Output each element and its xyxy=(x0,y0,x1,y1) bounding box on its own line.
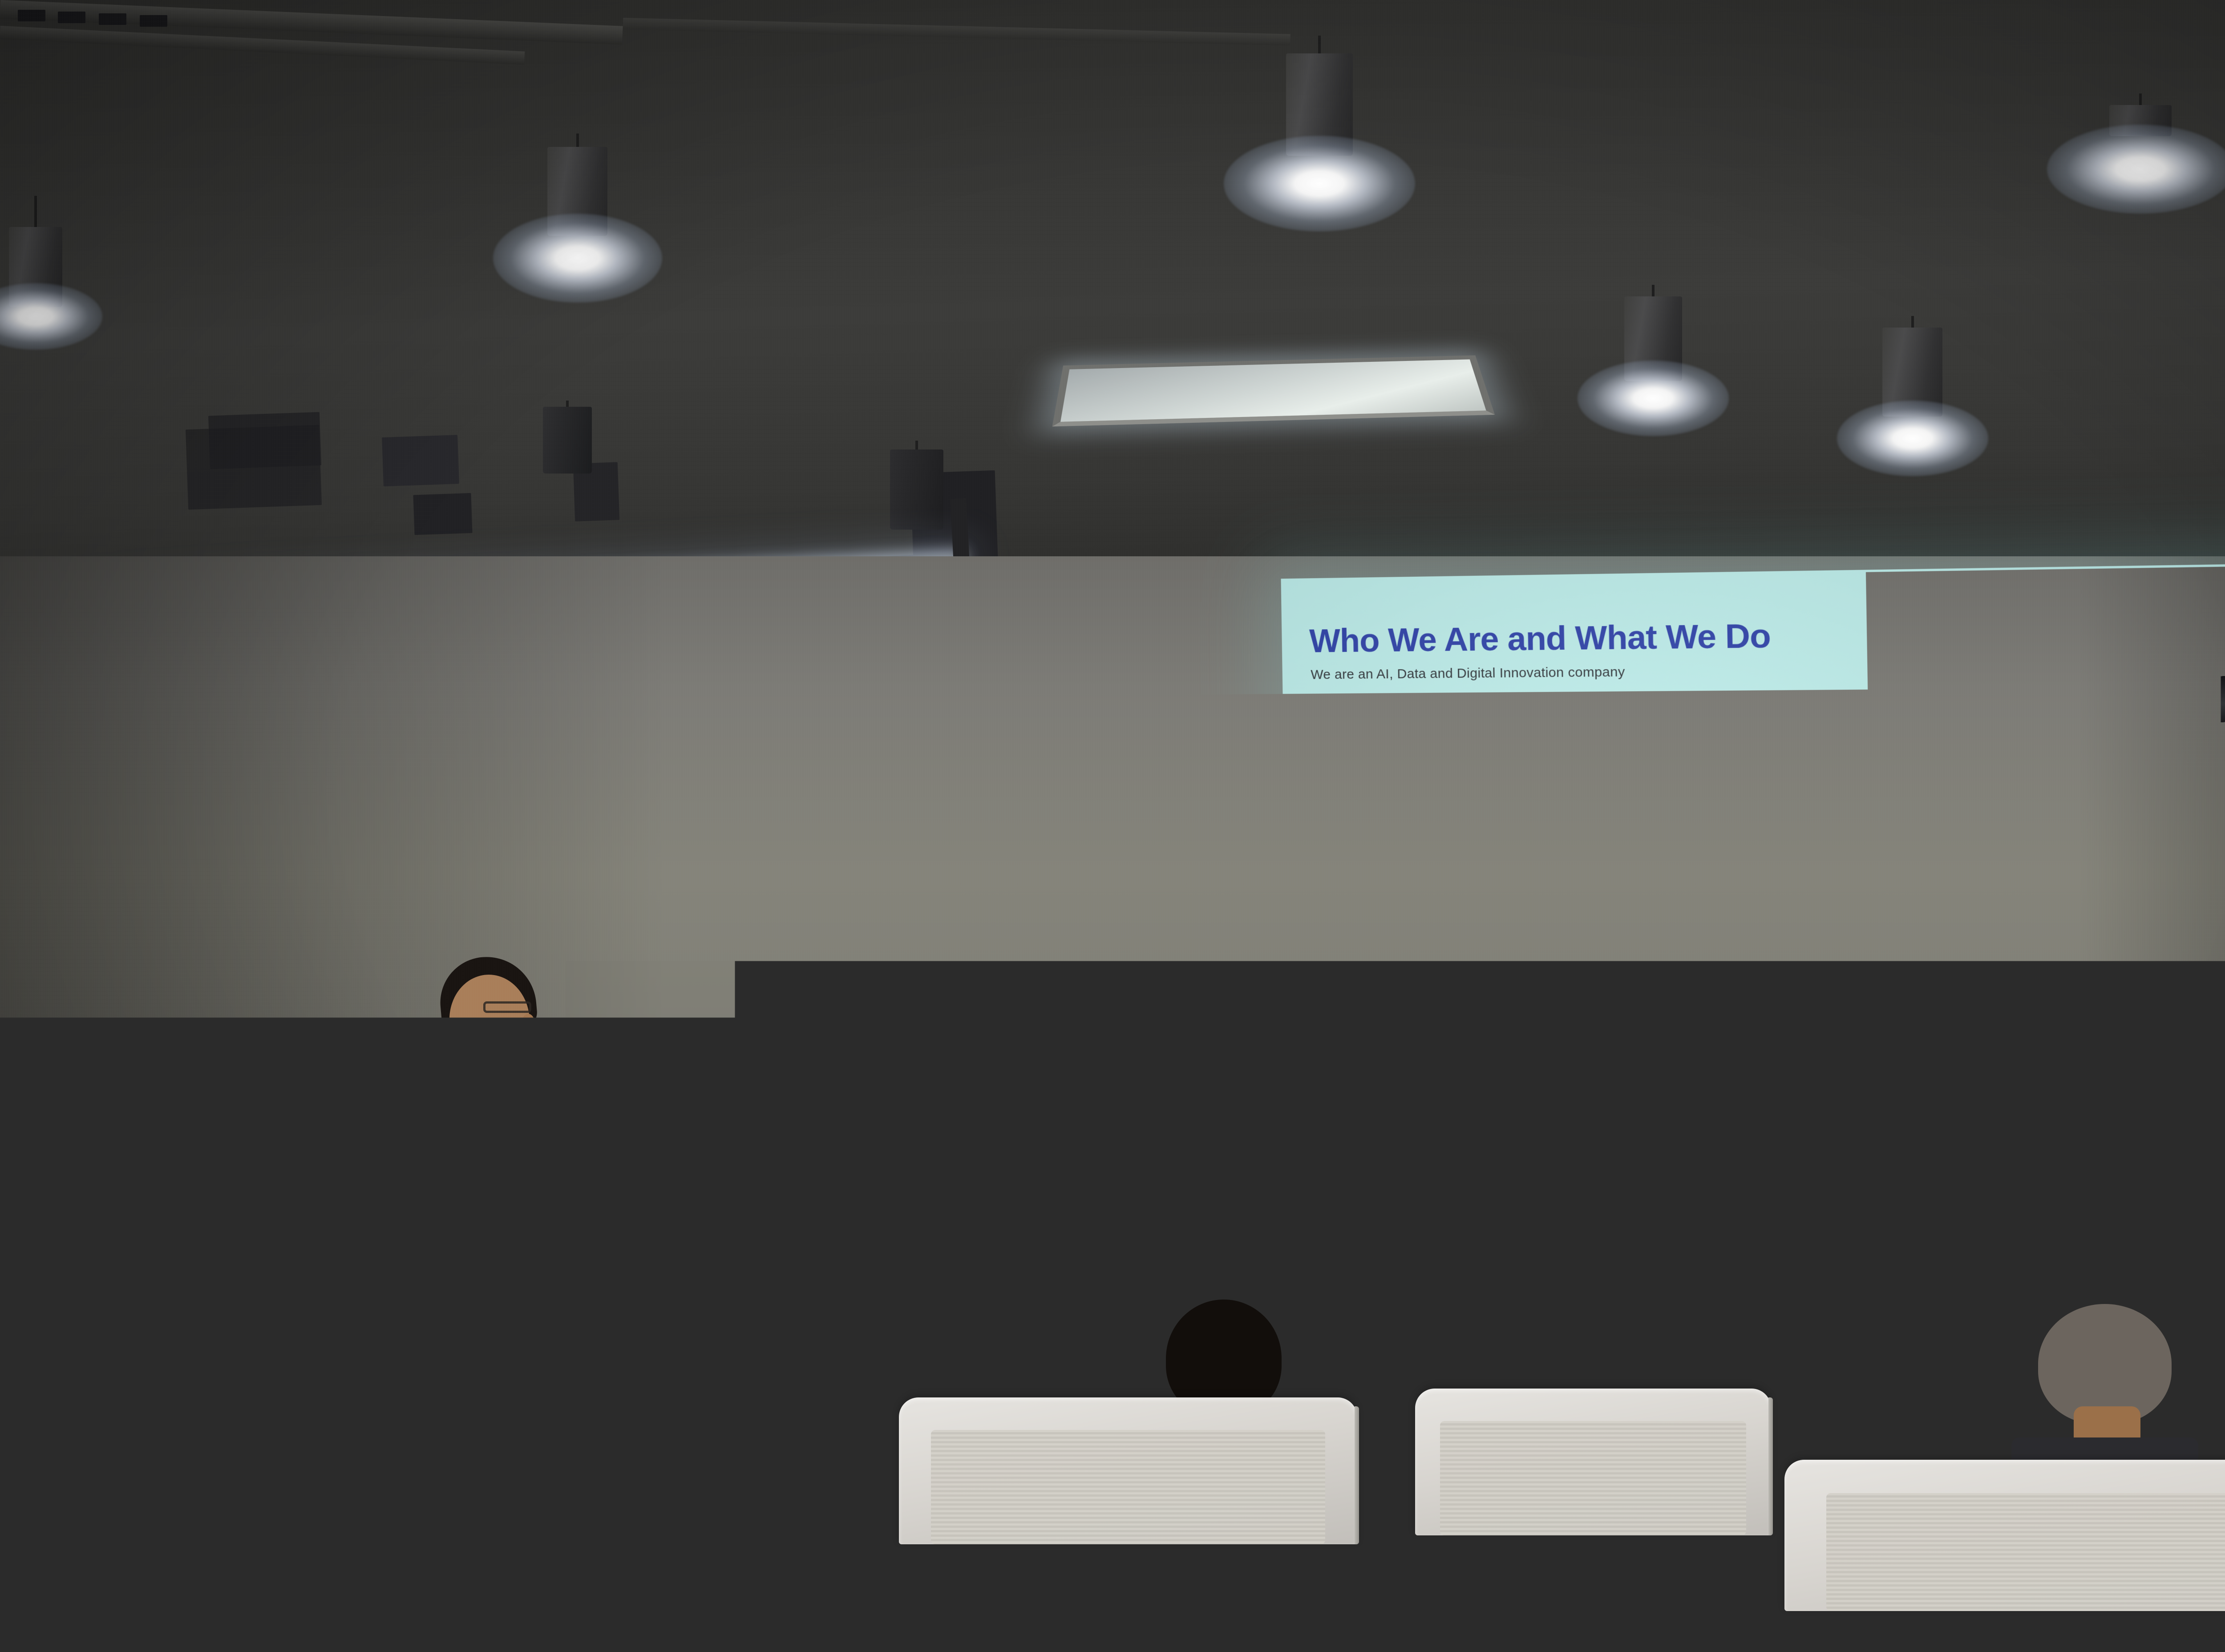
id-badge xyxy=(493,1228,535,1282)
company-infinity-logo xyxy=(2185,590,2225,642)
pendant-light xyxy=(1882,316,1942,503)
presence-row: USACA | FL | TXUKLeicesterSouth AfricaCe… xyxy=(1406,1059,2166,1132)
fact-post: more than 90% xyxy=(1745,1010,1806,1021)
pendant-light xyxy=(547,134,607,325)
partner-tier: Partner xyxy=(1664,938,1716,945)
row-label-presence: Presence xyxy=(1307,1071,1392,1086)
value-item: Impactful xyxy=(2030,866,2162,882)
key-fact-item: Proud digitalpartners on 1000+global pro… xyxy=(1550,978,1700,1047)
projection-screen: Who We Are and What We Do We are an AI, … xyxy=(1281,563,2225,1266)
pendant-light xyxy=(1624,285,1682,472)
goal-text: Building the enterprise of tomorrow, tod… xyxy=(1521,801,2031,816)
fact-pre: Proud digital xyxy=(1600,983,1649,993)
partner-item: awsawspartner network xyxy=(1773,927,1966,950)
fact-post: members xyxy=(1910,1012,1948,1023)
row-label-partnerships: Technology Partnerships xyxy=(1305,921,1390,948)
partner-name: MicrosoftSolutions Partner xyxy=(1484,927,1526,943)
key-fact-item: Global presencewith 400+ teammembers xyxy=(1851,981,2007,1052)
slide-subtitle: We are an AI, Data and Digital Innovatio… xyxy=(1311,664,1625,683)
auditorium-seat[interactable] xyxy=(1784,1460,2225,1611)
presence-cities: CA | FL | TX xyxy=(1410,1081,1585,1094)
acoustic-baffle xyxy=(413,493,472,535)
value-item: Cohesive xyxy=(1647,864,1773,880)
fact-post: of innovation xyxy=(1453,1006,1502,1016)
audience-desk xyxy=(1081,1620,1606,1652)
microsoft-logo xyxy=(1464,926,1479,944)
fact-highlight: partners on 1000+ xyxy=(1587,996,1663,1006)
presence-cities: AMD | PNQ | HYD xyxy=(1973,1092,2162,1105)
slide-surface: Who We Are and What We Do We are an AI, … xyxy=(1281,563,2225,1266)
fact-pre: Customer xyxy=(1756,985,1795,995)
partner-item: MicrosoftSolutions Partner xyxy=(1404,924,1586,947)
ceiling-vent xyxy=(99,13,126,25)
stage-table xyxy=(53,1219,329,1235)
partner-tier: Solution Partner xyxy=(2054,941,2096,948)
panel-ceiling-light xyxy=(1052,355,1495,426)
partner-tier: Solutions Partner xyxy=(1484,936,1525,943)
acoustic-baffle xyxy=(186,425,322,510)
key-fact-item: CustomerRetention Rate ofmore than 90% xyxy=(1699,980,1852,1050)
presence-country: South Africa xyxy=(1780,1068,1964,1084)
partner-item: Google CloudPartner xyxy=(1586,925,1774,948)
partner-tier: partner network xyxy=(1862,939,1902,947)
key-fact-item: More than24 yearsof innovation xyxy=(1404,976,1551,1045)
pendant-light xyxy=(543,401,592,516)
slide-title: Who We Are and What We Do xyxy=(1309,616,1771,660)
adobe-logo xyxy=(2033,931,2049,948)
pendant-light xyxy=(2109,93,2172,263)
key-fact-item: ServingCustomers in15+ Countries xyxy=(2006,983,2165,1055)
fact-highlight: 24 years xyxy=(1460,994,1495,1004)
row-label-goal: Goal xyxy=(1303,802,1388,815)
ceiling-vent xyxy=(18,10,45,21)
eyeglasses-icon xyxy=(483,1001,531,1013)
row-label-vision: Vision xyxy=(1302,728,1386,741)
presence-cities: Leicester xyxy=(1593,1085,1772,1098)
fact-post: 15+ Countries xyxy=(2056,1014,2115,1025)
key-facts-row: More than24 yearsof innovationProud digi… xyxy=(1404,976,2165,1054)
fact-pre: Serving xyxy=(2069,989,2101,999)
ceiling-vent xyxy=(58,12,85,23)
auditorium-seat[interactable] xyxy=(111,1335,610,1482)
auditorium-seat[interactable] xyxy=(899,1397,1357,1544)
value-item: Trusted xyxy=(1900,865,2030,881)
presence-cities: Centurion xyxy=(1781,1088,1965,1102)
row-label-values: Values xyxy=(1304,865,1389,879)
presence-country: India xyxy=(1973,1071,2161,1088)
partner-name: Google CloudPartner xyxy=(1664,929,1716,945)
water-bottle xyxy=(50,1375,93,1486)
google-cloud-logo xyxy=(1643,927,1659,945)
presence-item: IndiaAMD | PNQ | HYD xyxy=(1968,1068,2166,1132)
value-item: Agile xyxy=(1523,864,1647,879)
fact-highlight: with 400+ team xyxy=(1896,1000,1962,1010)
presence-item: UKLeicester xyxy=(1588,1062,1777,1124)
pendant-light xyxy=(9,196,62,365)
pendant-light xyxy=(1286,36,1353,249)
value-item: Curious xyxy=(1403,863,1524,879)
ear xyxy=(522,1014,535,1033)
partner-item: AdobeSolution Partner xyxy=(1966,929,2163,952)
vision-bar: Inspiring the future with technology xyxy=(1400,705,2160,758)
fact-highlight: Retention Rate of xyxy=(1738,997,1812,1008)
acoustic-baffle xyxy=(382,435,459,486)
aws-logo: aws xyxy=(1837,930,1858,947)
fact-highlight: Customers in xyxy=(2055,1001,2115,1012)
fact-pre: Global presence xyxy=(1895,987,1962,997)
presence-item: USACA | FL | TX xyxy=(1406,1059,1589,1120)
presence-item: South AfricaCenturion xyxy=(1776,1065,1969,1128)
partner-name: awspartner network xyxy=(1862,930,1902,947)
technology-partnerships-row: MicrosoftSolutions PartnerGoogle CloudPa… xyxy=(1404,910,2164,967)
value-item: Bold xyxy=(1772,865,1900,881)
audience-desk xyxy=(174,1584,703,1642)
ceiling-vent xyxy=(140,15,167,27)
auditorium-seat[interactable] xyxy=(1415,1389,1771,1535)
conference-room-scene: WH Who We Are and What We Do We are an A… xyxy=(0,0,2225,1652)
fact-pre: More than xyxy=(1457,982,1496,992)
presence-country: USA xyxy=(1410,1061,1585,1077)
goal-bar: Building the enterprise of tomorrow, tod… xyxy=(1402,783,2161,834)
svg-text:aws: aws xyxy=(1838,931,1850,938)
fact-post: global projects xyxy=(1597,1008,1654,1018)
partner-name: AdobeSolution Partner xyxy=(2053,932,2096,948)
desk-front-panel xyxy=(0,1540,222,1652)
row-label-key-facts: Key Facts xyxy=(1306,996,1391,1011)
values-row: CuriousAgileCohesiveBoldTrustedImpactful xyxy=(1403,853,2162,892)
presence-country: UK xyxy=(1593,1065,1772,1081)
vision-text: Inspiring the future with technology xyxy=(1660,725,1883,740)
